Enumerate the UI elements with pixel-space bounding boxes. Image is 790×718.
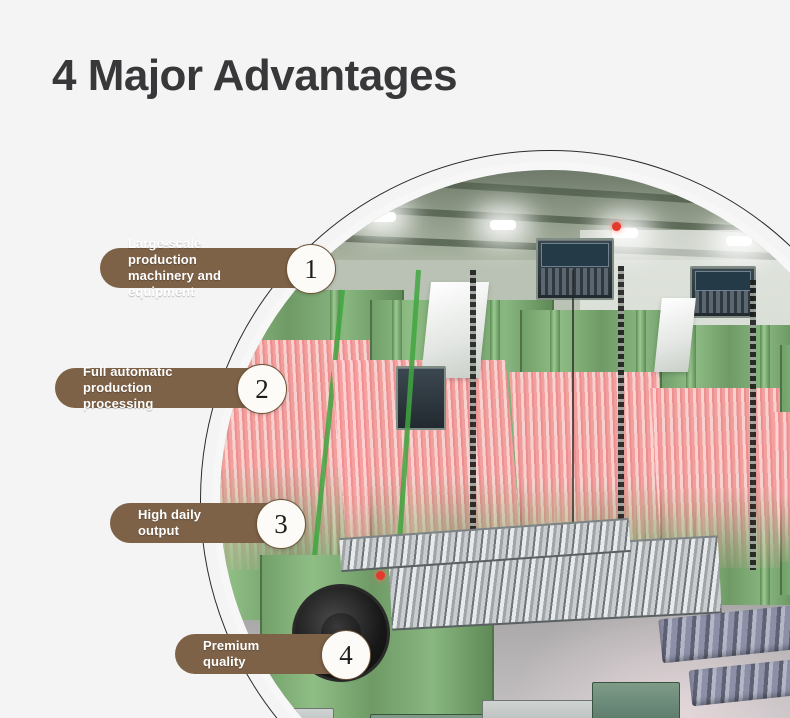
loom-frame [660,325,790,605]
advantages-banner: 4 Major Advantages [0,0,790,718]
loom-post [490,300,500,615]
thread-spool-rack [658,601,790,664]
hanging-cloth [421,282,489,378]
loom-unit [220,290,400,620]
loom-frame [370,300,554,615]
warp-yarn-fan [509,372,673,572]
thread-spool-rack [689,654,790,707]
hand-wheel-knob [400,580,438,618]
warp-yarn-fan [772,412,790,562]
chain-drive [750,280,756,570]
ceiling-lamp [612,228,638,238]
loom-frame [520,310,689,610]
loom-unit [520,310,685,610]
hanging-cloth [654,298,696,372]
advantage-label-2: Full automatic production processing [83,364,217,412]
green-trolley [592,682,680,718]
emergency-stop-button [376,571,385,580]
loom-frame [220,290,404,620]
ceiling-lamp [490,220,516,230]
loom-post [760,325,770,605]
loom-post [392,300,402,615]
advantage-item-4[interactable]: Premium quality 4 [175,634,390,674]
warp-yarn-fan [650,388,790,568]
control-panel-keypad [695,291,751,313]
advantage-item-2[interactable]: Full automatic production processing 2 [55,368,305,408]
advantage-pill-1[interactable]: Large-scale production machinery and equ… [100,248,312,288]
steel-trolley [482,700,604,718]
drive-belt [306,290,345,619]
photo-composition [0,0,790,718]
loom-unit [780,345,790,595]
page-title: 4 Major Advantages [52,52,457,100]
machine-label-card [396,366,446,430]
control-panel-screen [695,271,751,291]
ceiling-beam [220,197,790,242]
control-panel-keypad [541,268,609,295]
ceiling-beam [220,170,790,217]
advantage-number-badge-4: 4 [321,630,371,680]
drive-belt [392,270,421,619]
advantage-number-badge-3: 3 [256,499,306,549]
needle-bar-row [388,535,722,630]
depth-haze [580,230,790,718]
green-trolley [370,714,502,718]
warp-yarn-fan [331,360,525,575]
loom-post [686,325,696,605]
status-light [612,222,621,231]
loom-post [330,290,340,620]
advantage-number-badge-1: 1 [286,244,336,294]
advantage-item-3[interactable]: High daily output 3 [110,503,325,543]
advantage-item-1[interactable]: Large-scale production machinery and equ… [100,248,360,288]
control-panel [536,238,614,300]
advantage-pill-2[interactable]: Full automatic production processing [55,368,263,408]
circle-outline-ring [200,150,790,718]
control-panel [690,266,756,318]
loom-post [636,310,646,610]
floor-light-reflection [510,580,790,718]
chain-drive [470,270,476,600]
advantage-label-4: Premium quality [203,638,301,670]
loom-post [550,310,560,610]
advantage-label-3: High daily output [138,507,236,539]
steel-trolley [232,708,334,718]
wire [572,270,574,600]
ceiling-lamp [370,212,396,222]
chain-drive [618,266,624,586]
advantage-label-1: Large-scale production machinery and equ… [128,236,266,299]
needle-bar-row [339,518,631,572]
control-panel-screen [541,243,609,267]
loom-unit [370,300,550,615]
ceiling-lamp [726,236,752,246]
advantage-number-badge-2: 2 [237,364,287,414]
loom-frame [780,345,790,595]
loom-unit [660,325,790,605]
